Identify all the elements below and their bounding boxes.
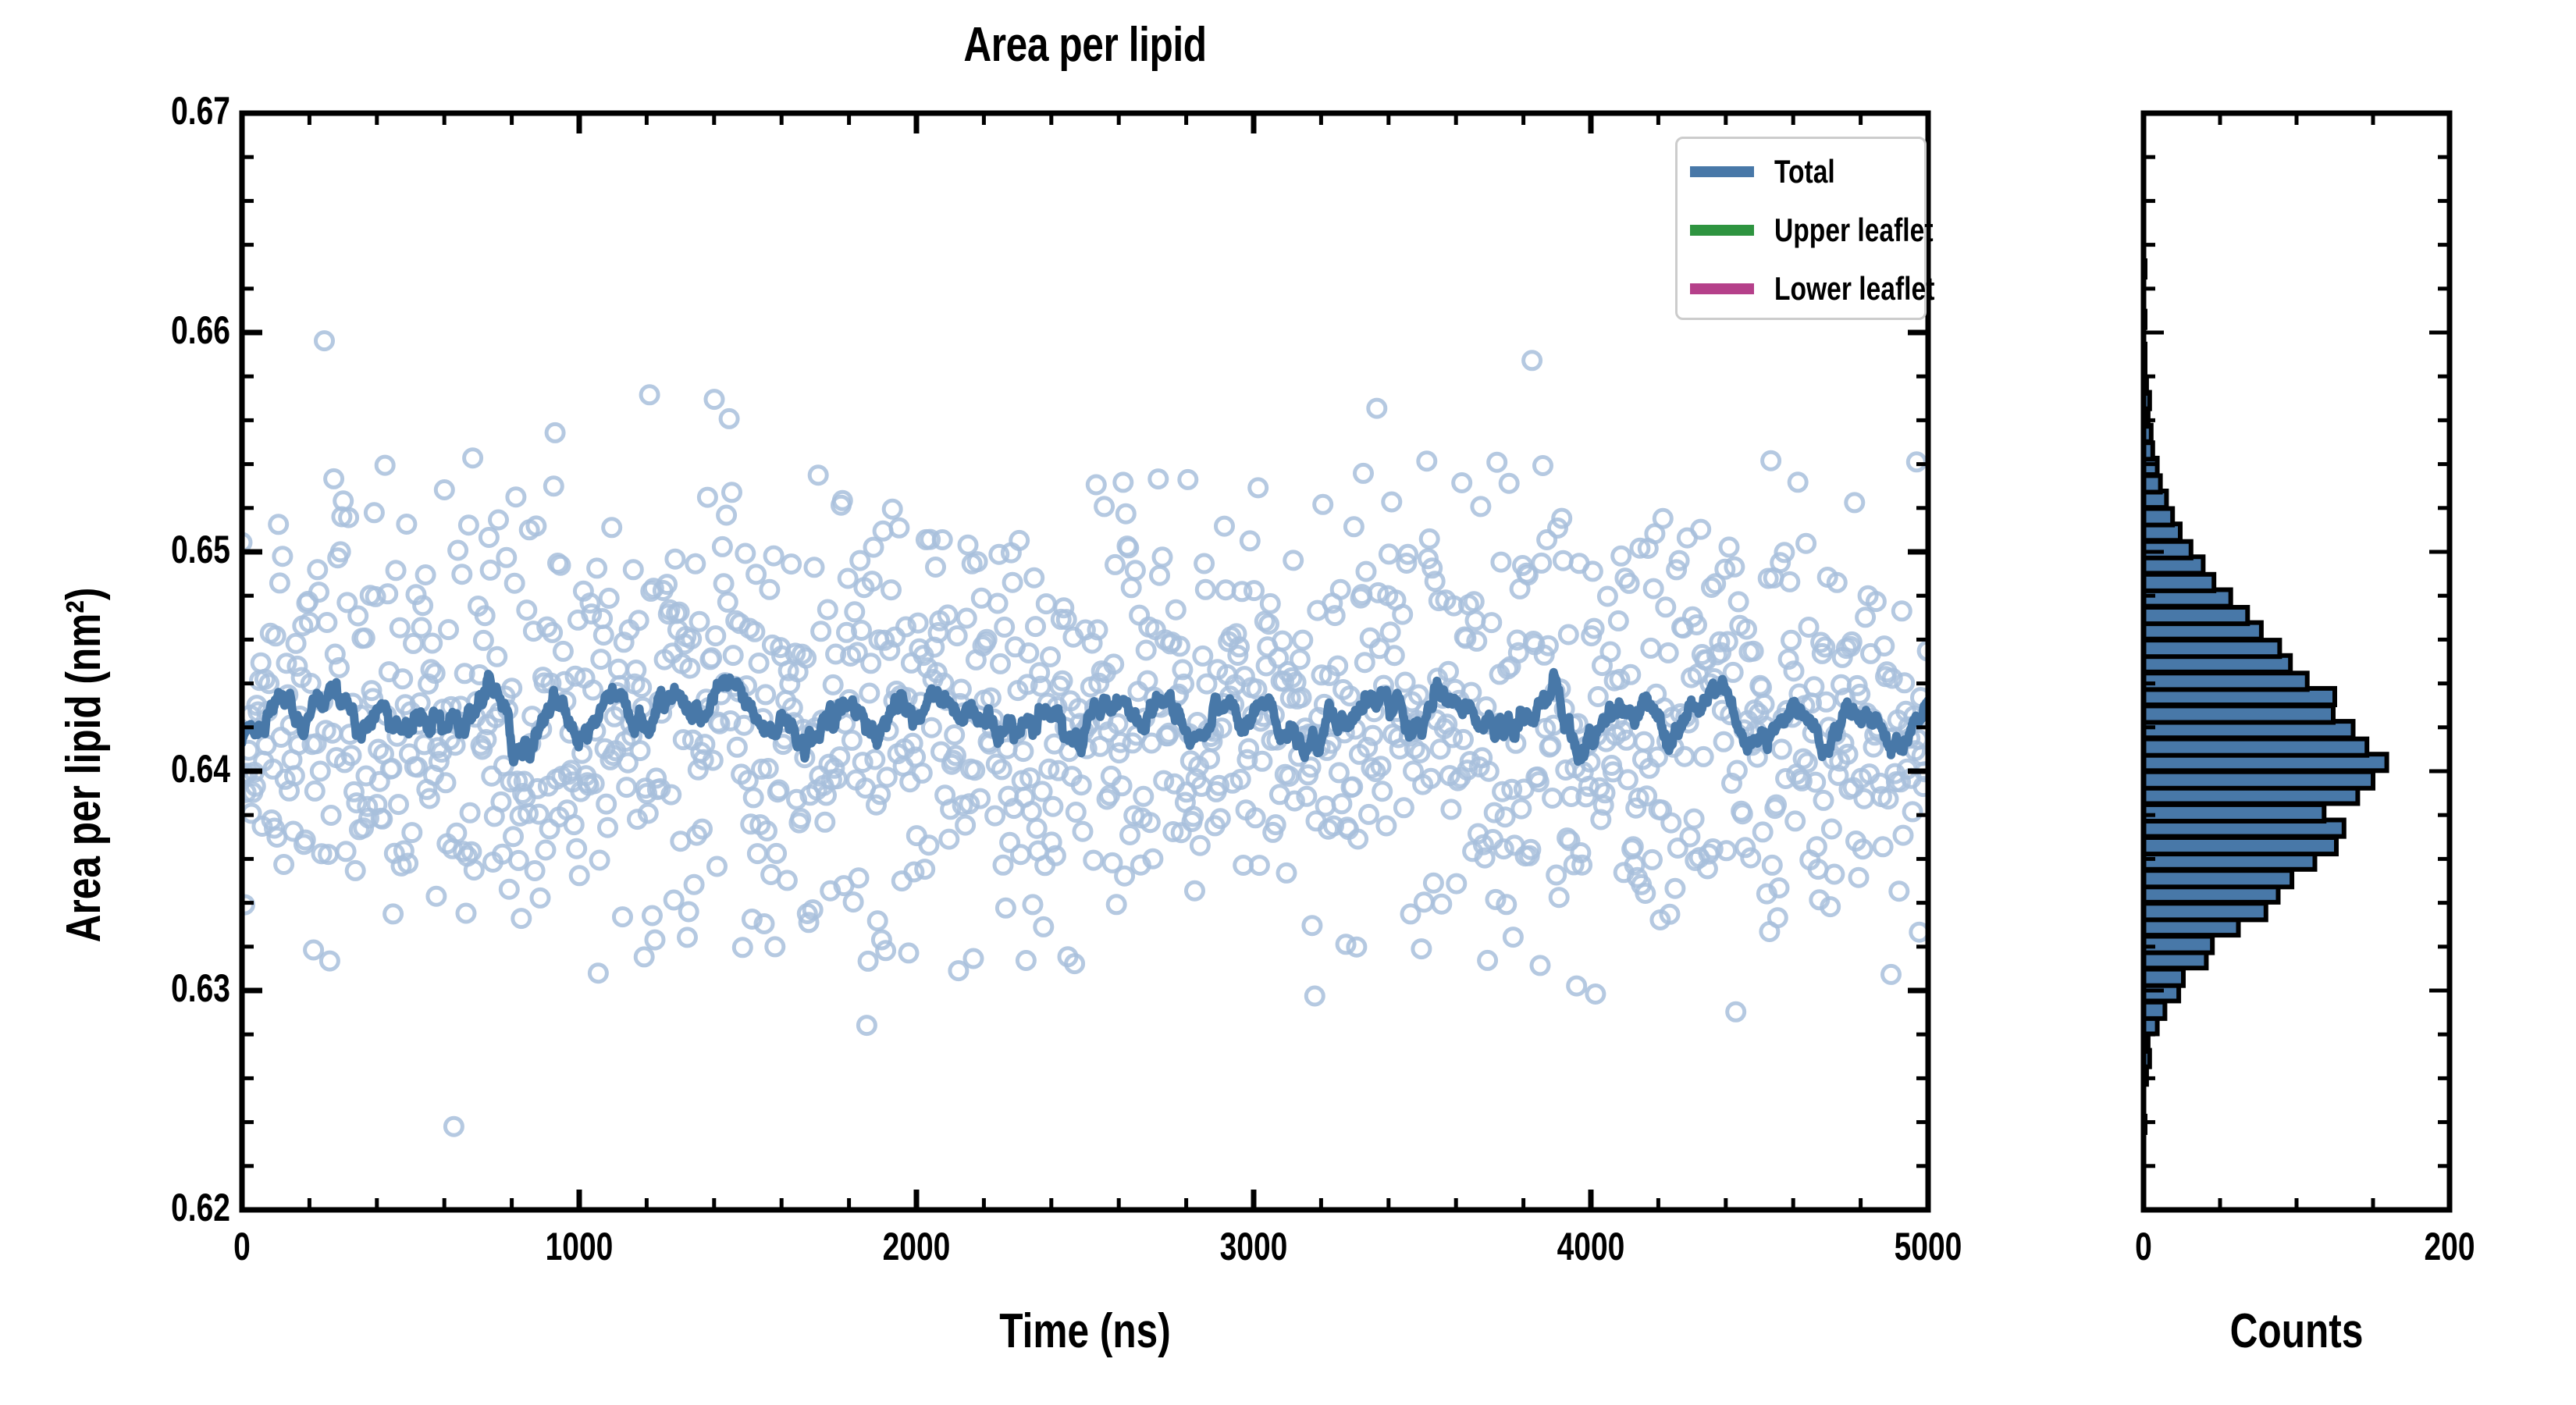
histogram-bars-layer <box>2144 261 2387 1133</box>
histogram-bar <box>2144 805 2324 821</box>
histogram-bar <box>2144 574 2214 591</box>
x-tick-label: 2000 <box>825 1224 1008 1269</box>
x-tick-label: 3000 <box>1162 1224 1345 1269</box>
legend-label-lower-leaflet: Lower leaflet <box>1774 270 1934 308</box>
main-y-axis-label: Area per lipid (nm²) <box>56 312 112 1218</box>
histogram-bar <box>2144 1002 2165 1019</box>
histogram-bar <box>2144 542 2191 558</box>
histogram-bar <box>2144 607 2247 624</box>
histogram-bar <box>2144 903 2266 919</box>
histogram-bar <box>2144 969 2183 986</box>
hist-x-axis-label: Counts <box>2174 1304 2419 1359</box>
histogram-bar <box>2144 772 2373 788</box>
histogram-bar <box>2144 739 2367 756</box>
x-tick-label: 4000 <box>1500 1224 1682 1269</box>
histogram-bar <box>2144 870 2292 887</box>
histogram-bar <box>2144 509 2172 525</box>
legend-swatch-total <box>1690 166 1754 177</box>
hist-x-tick-label: 200 <box>2358 1224 2541 1269</box>
figure-root: Area per lipid 0.620.630.640.650.660.67 … <box>0 0 2576 1405</box>
histogram-bar <box>2144 640 2279 656</box>
y-tick-label: 0.67 <box>51 88 230 133</box>
legend-swatch-lower-leaflet <box>1690 283 1754 294</box>
legend-item-lower-leaflet: Lower leaflet <box>1690 273 1975 304</box>
histogram-bar <box>2144 937 2212 953</box>
x-tick-label: 0 <box>151 1224 333 1269</box>
legend-label-total: Total <box>1774 153 1835 190</box>
histogram-bar <box>2144 673 2307 689</box>
legend[interactable]: Total Upper leaflet Lower leaflet <box>1675 137 1927 320</box>
legend-label-upper-leaflet: Upper leaflet <box>1774 212 1934 249</box>
hist-x-tick-label: 0 <box>2052 1224 2235 1269</box>
x-tick-label: 1000 <box>488 1224 671 1269</box>
histogram-bar <box>2144 838 2336 854</box>
legend-item-upper-leaflet: Upper leaflet <box>1690 215 1973 246</box>
legend-swatch-upper-leaflet <box>1690 225 1754 236</box>
plot-canvas <box>0 0 2576 1405</box>
x-tick-label: 5000 <box>1837 1224 2019 1269</box>
main-x-axis-label: Time (ns) <box>411 1304 1759 1359</box>
histogram-bar <box>2144 706 2333 722</box>
legend-item-total: Total <box>1690 156 1850 187</box>
